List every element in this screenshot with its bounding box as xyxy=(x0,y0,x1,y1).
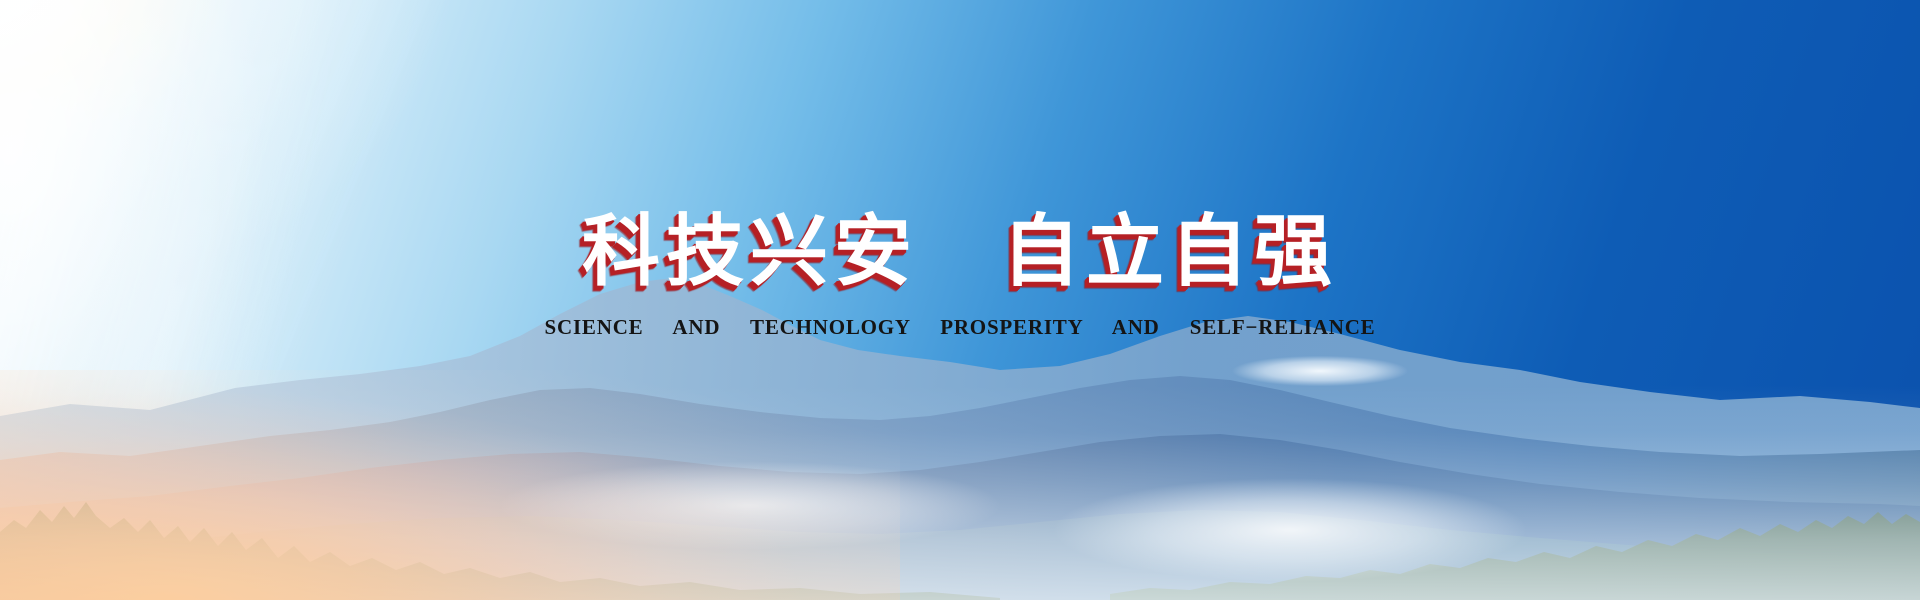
banner-subheadline: SCIENCE AND TECHNOLOGY PROSPERITY AND SE… xyxy=(0,315,1920,340)
hero-banner: 科技兴安 自立自强 SCIENCE AND TECHNOLOGY PROSPER… xyxy=(0,0,1920,600)
banner-headline: 科技兴安 自立自强 xyxy=(582,212,1338,293)
